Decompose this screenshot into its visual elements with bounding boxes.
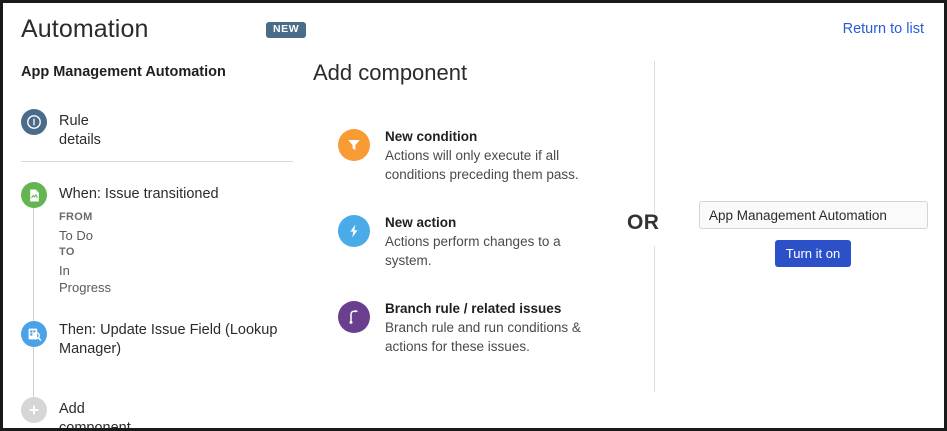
branch-icon [338, 301, 370, 333]
sidebar-item-when-label: When: Issue transitioned [59, 185, 219, 204]
or-label: OR [627, 211, 659, 235]
component-title: New condition [385, 128, 595, 146]
when-to-value: In Progress [59, 262, 111, 297]
sidebar-item-then-label: Then: Update Issue Field (Lookup Manager… [59, 321, 293, 359]
component-option-new-action[interactable]: New action Actions perform changes to a … [338, 213, 638, 270]
rule-chain-connector-line [33, 198, 34, 410]
vertical-divider-bottom [654, 246, 655, 392]
funnel-icon [338, 129, 370, 161]
add-component-heading: Add component [313, 60, 467, 86]
page-title: Automation [21, 15, 148, 44]
component-option-branch-rule[interactable]: Branch rule / related issues Branch rule… [338, 299, 638, 356]
component-option-text: New condition Actions will only execute … [385, 127, 595, 184]
component-option-text: New action Actions perform changes to a … [385, 213, 595, 270]
sidebar-divider [21, 161, 293, 162]
document-trigger-icon [21, 182, 47, 208]
vertical-divider-top [654, 61, 655, 213]
when-to-key: TO [59, 244, 111, 262]
add-component-panel: Add component New condition Actions will… [308, 53, 648, 431]
sidebar-item-add-component-label: Add component [59, 400, 131, 431]
when-from-value: To Do [59, 227, 111, 245]
info-circle-icon [21, 109, 47, 135]
sidebar-item-rule-details-label: Rule details [59, 112, 101, 150]
component-option-text: Branch rule / related issues Branch rule… [385, 299, 595, 356]
rule-chain-sidebar: App Management Automation Rule details [3, 53, 303, 431]
turn-it-on-button[interactable]: Turn it on [775, 240, 851, 267]
component-description: Actions will only execute if all conditi… [385, 146, 595, 184]
component-description: Branch rule and run conditions & actions… [385, 318, 595, 356]
when-from-key: FROM [59, 209, 111, 227]
component-description: Actions perform changes to a system. [385, 232, 595, 270]
return-to-list-link[interactable]: Return to list [843, 21, 924, 37]
rule-name-input[interactable] [699, 201, 928, 229]
sidebar-rule-name: App Management Automation [21, 64, 226, 80]
component-title: Branch rule / related issues [385, 300, 595, 318]
plus-circle-icon [21, 397, 47, 423]
lightning-bolt-icon [338, 215, 370, 247]
when-trigger-details: FROM To Do TO In Progress [59, 209, 111, 297]
automation-rule-editor-window: Automation NEW Return to list App Manage… [0, 0, 947, 431]
component-option-new-condition[interactable]: New condition Actions will only execute … [338, 127, 638, 184]
new-badge: NEW [266, 22, 306, 38]
edit-field-icon [21, 321, 47, 347]
component-title: New action [385, 214, 595, 232]
